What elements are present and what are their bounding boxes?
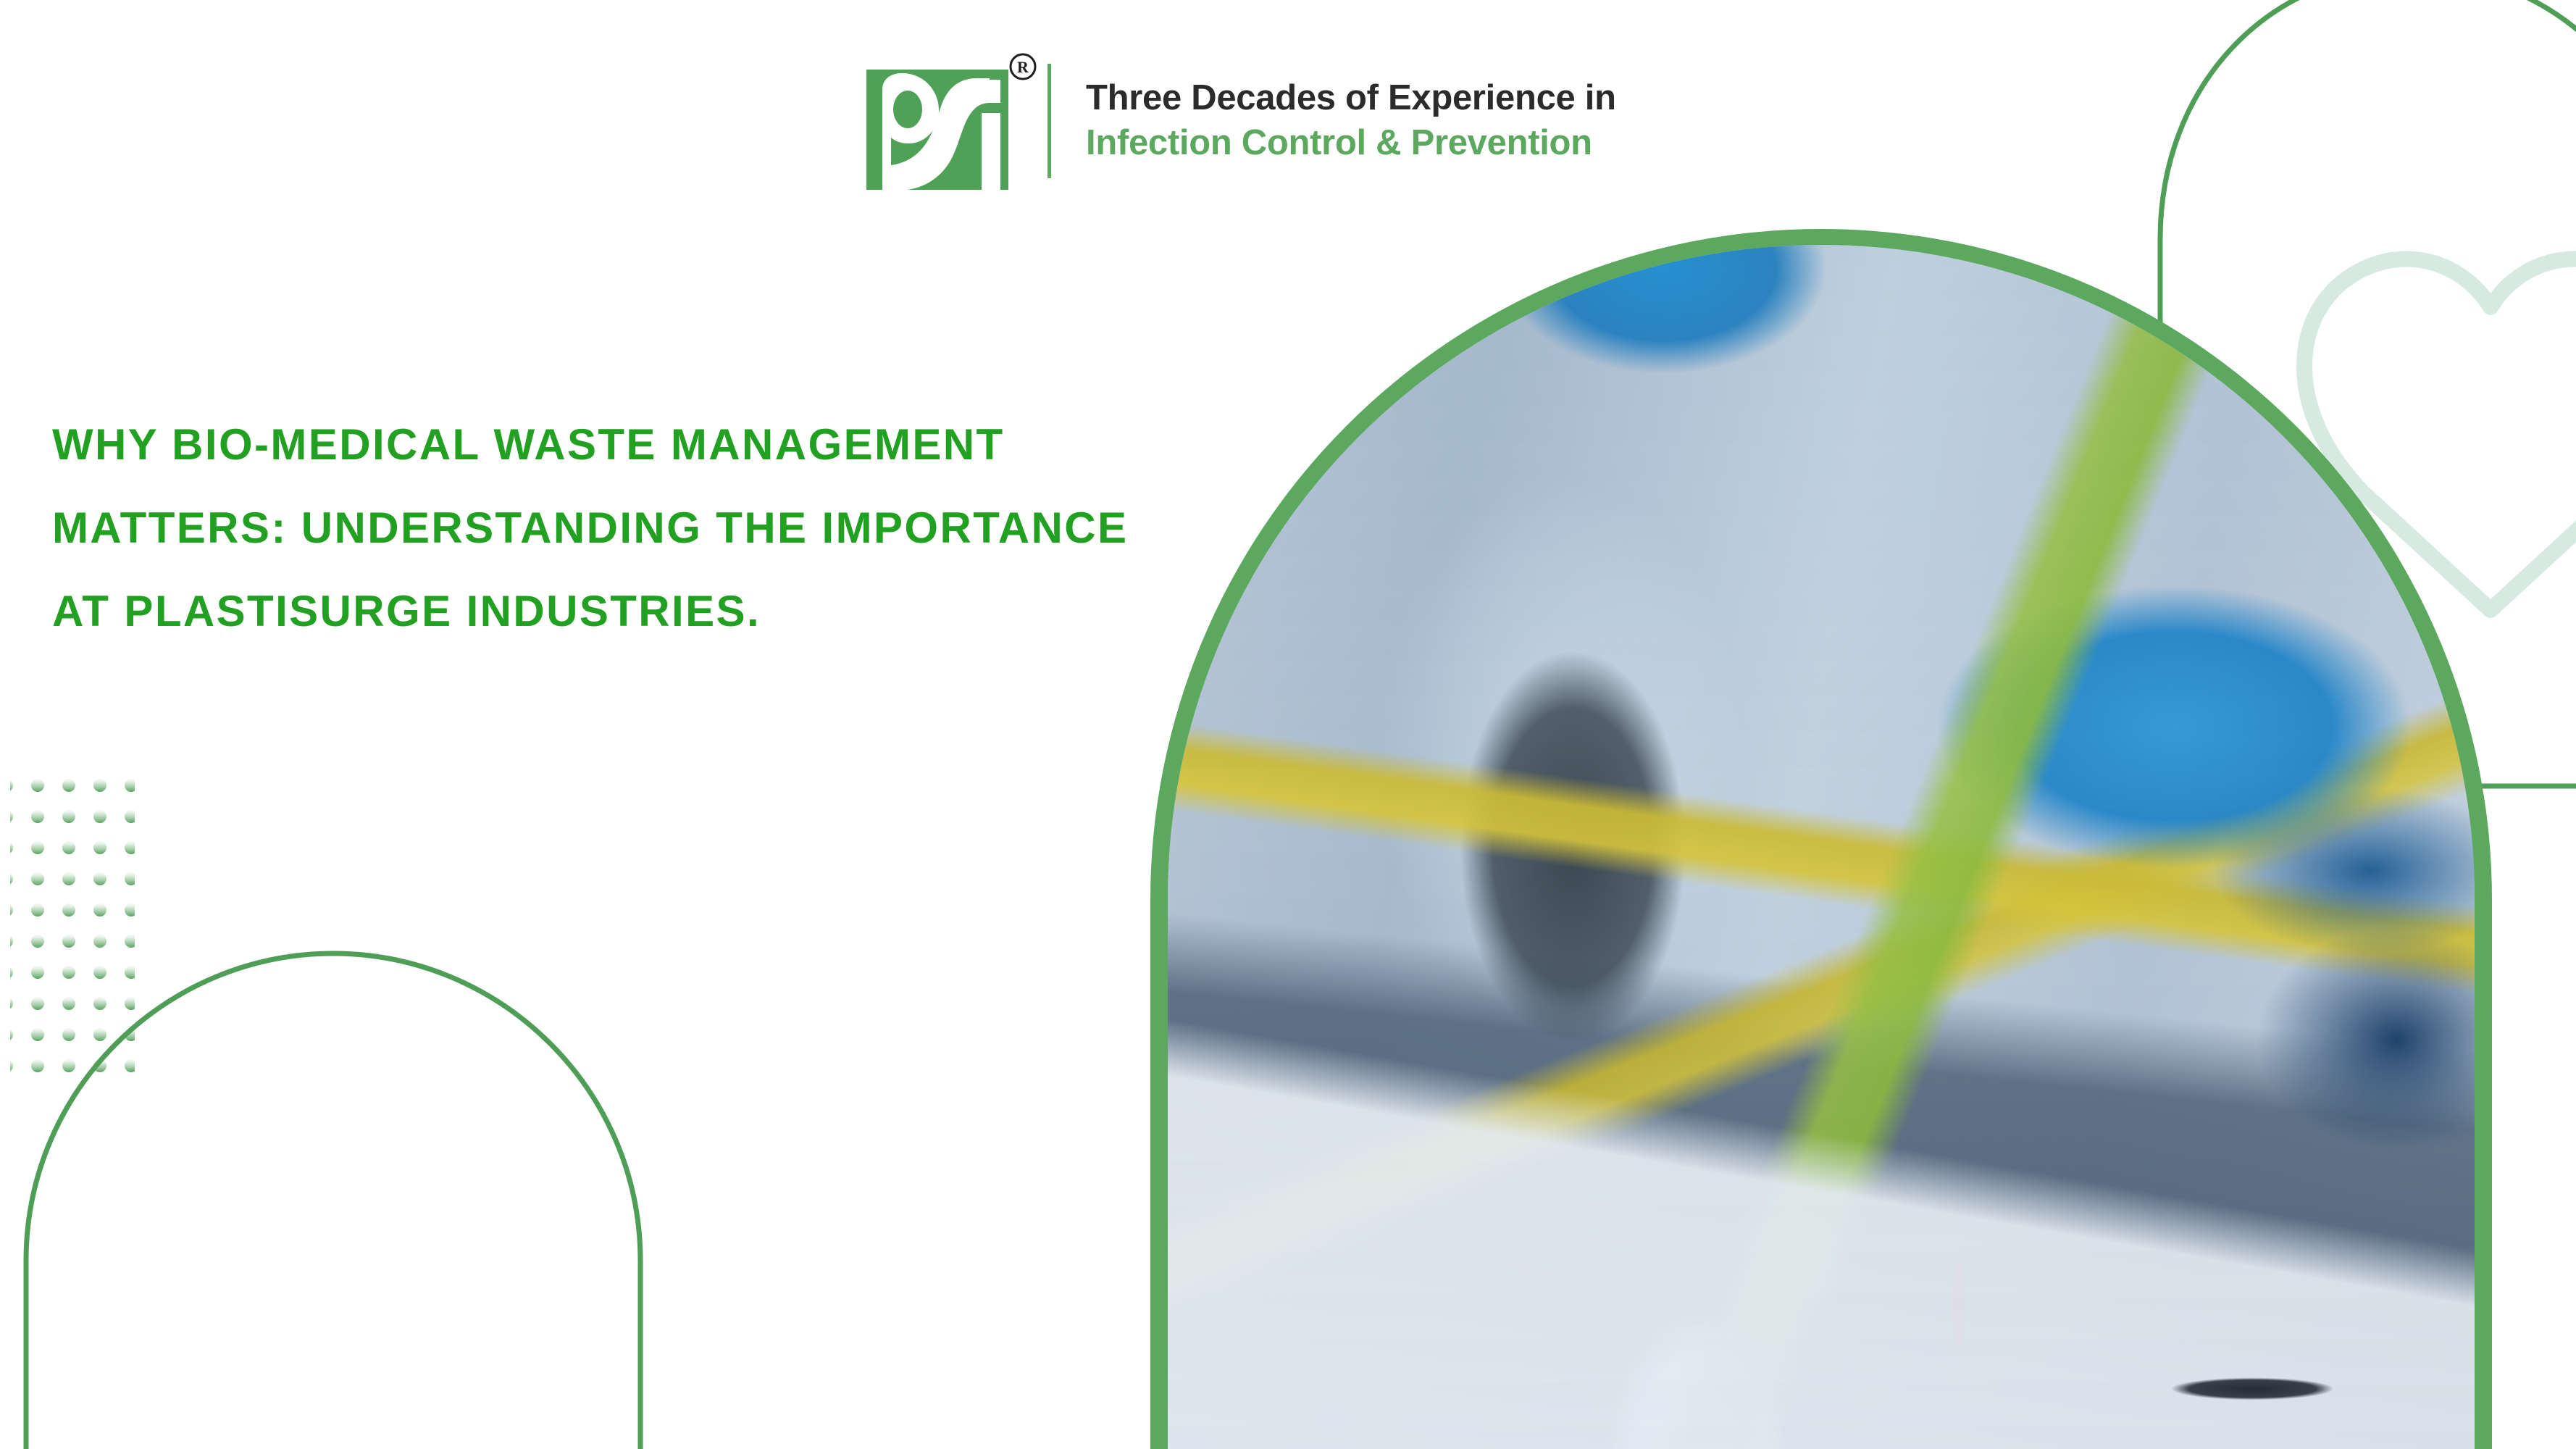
- headline-line-1: WHY BIO-MEDICAL WASTE MANAGEMENT: [52, 403, 1226, 486]
- psi-logo-mark[interactable]: R: [866, 52, 1034, 190]
- headline-line-2: MATTERS: UNDERSTANDING THE IMPORTANCE: [52, 486, 1226, 569]
- hero-photo-tint: [1168, 245, 2475, 1449]
- tagline-block: Three Decades of Experience in Infection…: [1086, 80, 1616, 162]
- tagline-line-2: Infection Control & Prevention: [1086, 125, 1616, 162]
- outline-arch-bottom-left: [26, 953, 640, 1449]
- logo-lockup[interactable]: R Three Decades of Experience in Infecti…: [866, 52, 1616, 190]
- hero-image-alt-text: Gloved hands sealing a clear plastic bio…: [0, 0, 1, 1]
- page-title: WHY BIO-MEDICAL WASTE MANAGEMENT MATTERS…: [52, 403, 1226, 653]
- headline-line-3: AT PLASTISURGE INDUSTRIES.: [52, 569, 1226, 653]
- svg-text:R: R: [1017, 58, 1029, 76]
- tagline-line-1: Three Decades of Experience in: [1086, 80, 1616, 117]
- hero-image: [1168, 245, 2475, 1449]
- hero-image-arch-frame: [1150, 229, 2492, 1449]
- logo-divider: [1047, 64, 1051, 178]
- psi-wordmark-icon: [866, 70, 1008, 190]
- dot-grid-pattern: [10, 772, 135, 1083]
- registered-trademark-icon: R: [1008, 52, 1037, 81]
- banner-canvas: R Three Decades of Experience in Infecti…: [0, 0, 2576, 1449]
